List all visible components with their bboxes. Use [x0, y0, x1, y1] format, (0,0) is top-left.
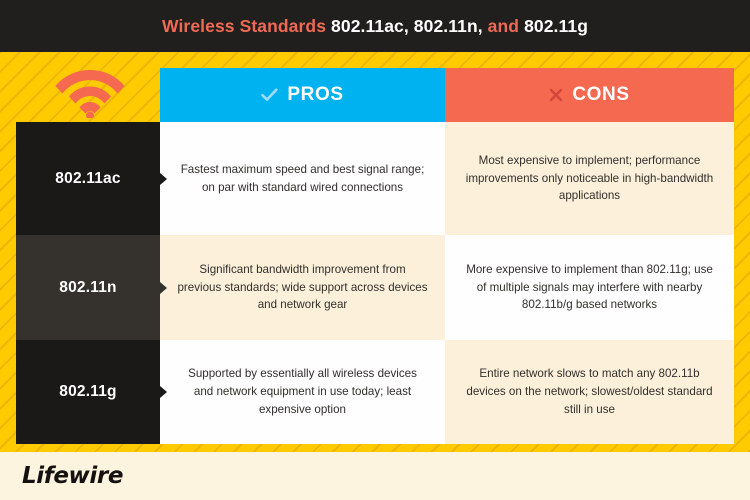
cell-cons-80211g: Entire network slows to match any 802.11…: [445, 340, 734, 444]
row-label-text: 802.11n: [59, 279, 116, 297]
title-segment-80211g: 802.11g: [524, 16, 588, 36]
page-title: Wireless Standards 802.11ac, 802.11n, an…: [162, 16, 588, 37]
row-label-80211ac: 802.11ac: [16, 122, 160, 235]
cell-pros-80211g: Supported by essentially all wireless de…: [160, 340, 445, 444]
table-row: 802.11ac Fastest maximum speed and best …: [16, 122, 734, 235]
table-row: 802.11g Supported by essentially all wir…: [16, 340, 734, 444]
footer: Lifewire: [0, 452, 750, 500]
infographic-root: Wireless Standards 802.11ac, 802.11n, an…: [0, 0, 750, 500]
cell-pros-80211ac: Fastest maximum speed and best signal ra…: [160, 122, 445, 235]
x-icon: [549, 88, 563, 102]
row-pointer-icon: [160, 282, 167, 294]
title-segment-and: and: [488, 16, 519, 36]
table-header-row: PROS CONS: [16, 68, 734, 122]
row-label-80211g: 802.11g: [16, 340, 160, 444]
column-header-pros-label: PROS: [287, 84, 343, 106]
comparison-table: PROS CONS 802.11ac Fastest maximum speed…: [16, 68, 734, 444]
row-pointer-icon: [160, 386, 167, 398]
column-header-cons: CONS: [445, 68, 734, 122]
cell-cons-80211ac: Most expensive to implement; performance…: [445, 122, 734, 235]
row-label-text: 802.11ac: [55, 170, 120, 188]
row-pointer-icon: [160, 173, 167, 185]
check-icon: [261, 88, 278, 102]
table-row: 802.11n Significant bandwidth improvemen…: [16, 235, 734, 340]
row-label-80211n: 802.11n: [16, 235, 160, 340]
lifewire-logo: Lifewire: [22, 463, 123, 489]
row-label-text: 802.11g: [59, 383, 116, 401]
cell-pros-80211n: Significant bandwidth improvement from p…: [160, 235, 445, 340]
header-label-spacer: [16, 68, 160, 122]
column-header-cons-label: CONS: [572, 84, 629, 106]
cell-cons-80211n: More expensive to implement than 802.11g…: [445, 235, 734, 340]
title-segment-standards-list: 802.11ac, 802.11n,: [331, 16, 483, 36]
title-segment-wireless-standards: Wireless Standards: [162, 16, 326, 36]
title-bar: Wireless Standards 802.11ac, 802.11n, an…: [0, 0, 750, 52]
column-header-pros: PROS: [160, 68, 445, 122]
